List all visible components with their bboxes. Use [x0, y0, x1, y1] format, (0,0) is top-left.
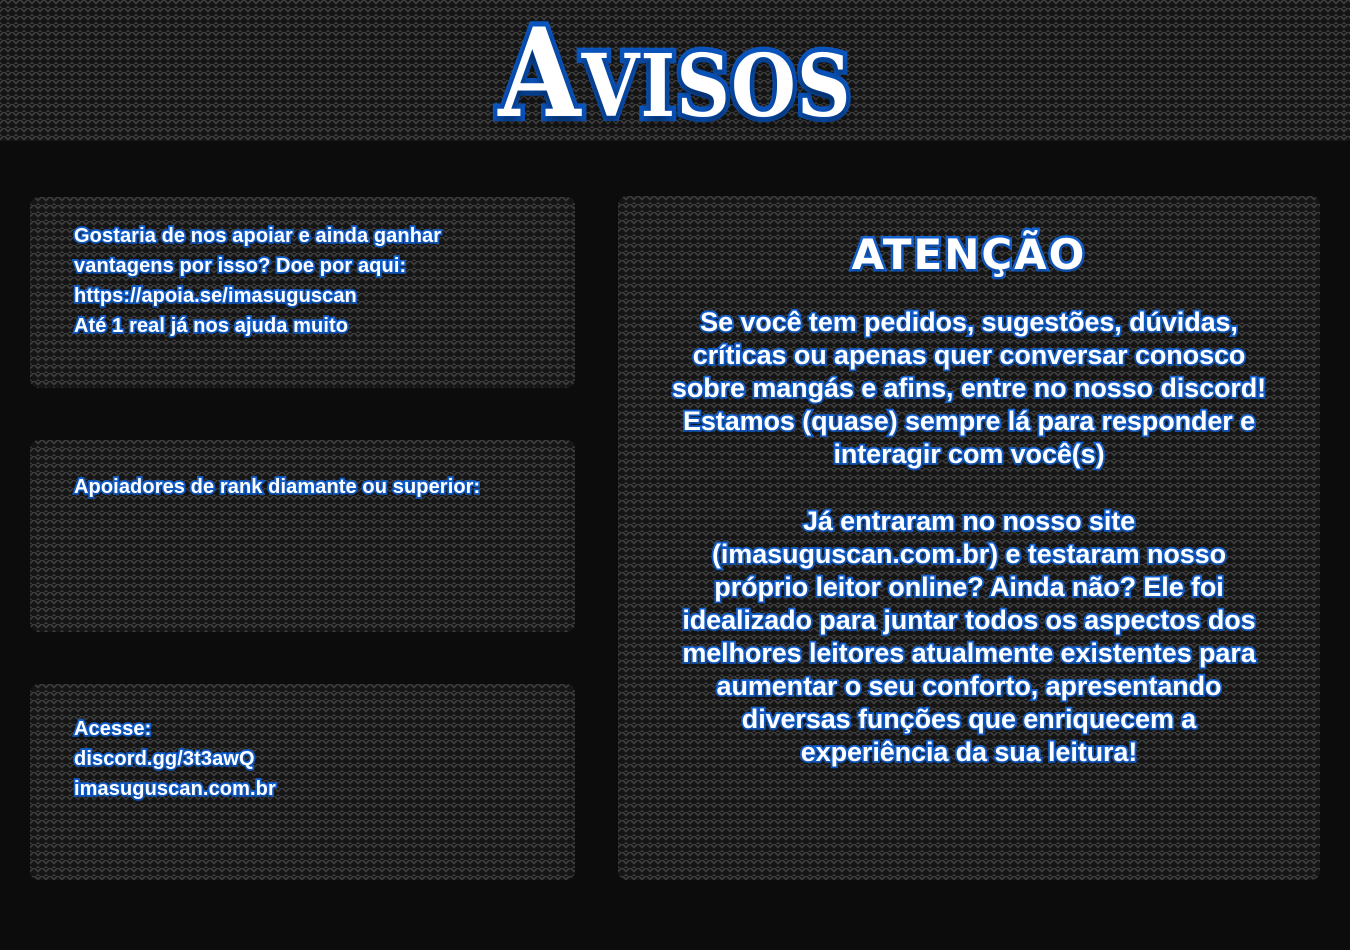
- attention-panel-content: ATENÇÃO Se você tem pedidos, sugestões, …: [618, 196, 1320, 880]
- backers-panel: Apoiadores de rank diamante ou superior:: [30, 440, 575, 632]
- support-panel-text: Gostaria de nos apoiar e ainda ganhar va…: [74, 221, 441, 341]
- links-panel: Acesse: discord.gg/3t3awQ imasuguscan.co…: [30, 684, 575, 880]
- attention-heading: ATENÇÃO: [630, 226, 1308, 284]
- support-panel: Gostaria de nos apoiar e ainda ganhar va…: [30, 197, 575, 388]
- page-title: Avisos: [0, 4, 1350, 143]
- backers-panel-heading: Apoiadores de rank diamante ou superior:: [74, 472, 480, 502]
- links-panel-text: Acesse: discord.gg/3t3awQ imasuguscan.co…: [74, 714, 276, 804]
- attention-paragraph-website: Já entraram no nosso site (imasuguscan.c…: [630, 505, 1308, 769]
- header-band: Avisos: [0, 0, 1350, 141]
- attention-panel: ATENÇÃO Se você tem pedidos, sugestões, …: [618, 196, 1320, 880]
- attention-paragraph-discord: Se você tem pedidos, sugestões, dúvidas,…: [630, 306, 1308, 471]
